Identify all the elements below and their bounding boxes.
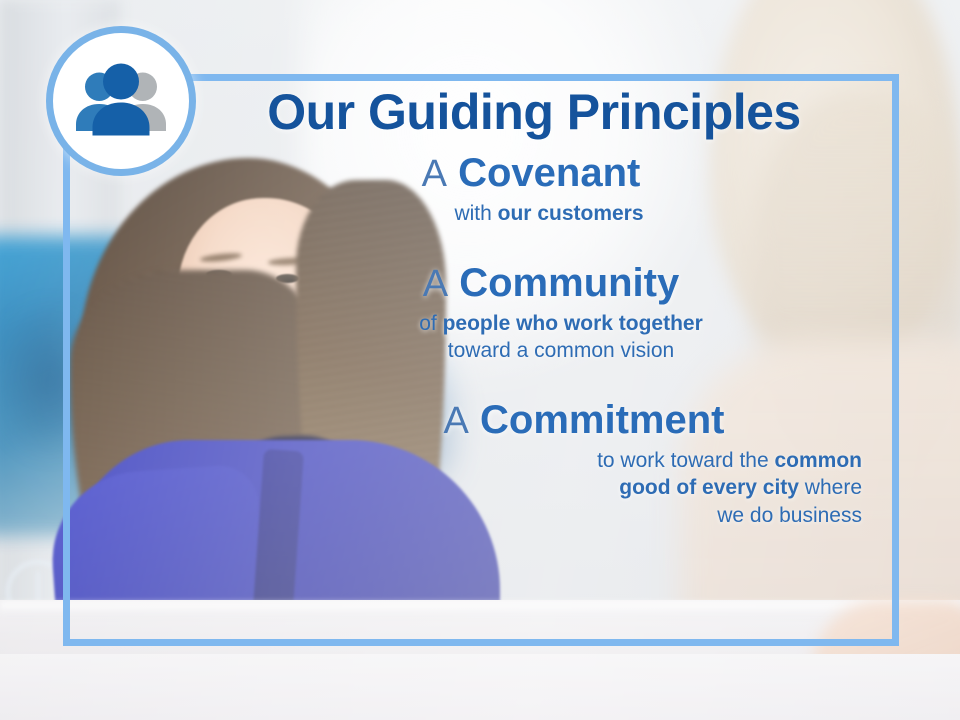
principle-commitment-word: Commitment — [480, 398, 724, 442]
subtext-line: good of every city where — [320, 474, 862, 501]
subtext-line: with our customers — [230, 200, 868, 227]
subtext-emphasis: good of every city — [619, 476, 799, 499]
desk-front-surface — [0, 654, 960, 720]
subtext-emphasis: common — [774, 449, 862, 472]
principle-community-word: Community — [459, 261, 679, 305]
principle-commitment-headline: A Commitment — [300, 399, 868, 441]
subtext-plain: toward a common vision — [448, 339, 674, 362]
principle-commitment-article: A — [444, 400, 469, 442]
principle-commitment: A Commitment to work toward the commongo… — [200, 399, 868, 529]
page-title: Our Guiding Principles — [200, 86, 868, 138]
principle-covenant-headline: A Covenant — [194, 152, 868, 194]
subtext-plain: to work toward the — [597, 449, 774, 472]
principle-community-article: A — [423, 263, 448, 305]
principle-covenant: A Covenant with our customers — [200, 152, 868, 228]
principle-commitment-subtext: to work toward the commongood of every c… — [320, 447, 868, 529]
subtext-emphasis: people who work together — [443, 312, 703, 335]
principle-community: A Community of people who work togethert… — [200, 262, 868, 365]
principle-community-headline: A Community — [234, 262, 868, 304]
principle-covenant-subtext: with our customers — [230, 200, 868, 227]
subtext-plain: we do business — [717, 504, 862, 527]
principle-community-subtext: of people who work togethertoward a comm… — [254, 310, 868, 365]
subtext-plain: where — [799, 476, 862, 499]
principle-covenant-article: A — [422, 153, 447, 195]
subtext-plain: with — [454, 202, 497, 225]
people-group-icon — [73, 62, 169, 140]
subtext-line: we do business — [320, 502, 862, 529]
subtext-line: of people who work together — [254, 310, 868, 337]
principle-covenant-word: Covenant — [458, 151, 640, 195]
subtext-line: to work toward the common — [320, 447, 862, 474]
subtext-plain: of — [419, 312, 442, 335]
people-group-badge — [46, 26, 196, 176]
subtext-line: toward a common vision — [254, 337, 868, 364]
principles-content: Our Guiding Principles A Covenant with o… — [200, 86, 868, 634]
guiding-principles-graphic: FLOW FLOW Our Guiding Principl — [0, 0, 960, 720]
subtext-emphasis: our customers — [498, 202, 644, 225]
